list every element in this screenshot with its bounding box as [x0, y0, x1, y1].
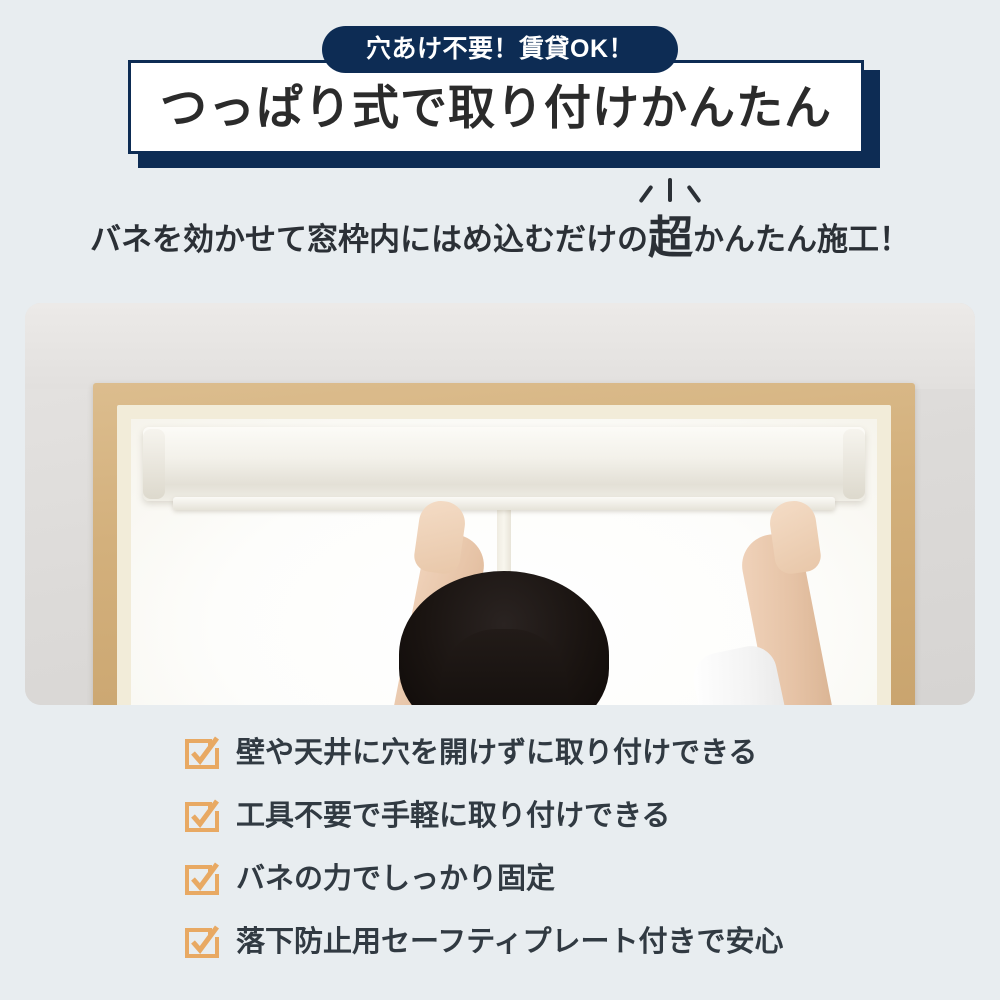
checklist-item: 落下防止用セーフティプレート付きで安心 [0, 911, 1000, 974]
subtitle-emphasis: 超 [648, 212, 693, 263]
subtitle: バネを効かせて窓枠内にはめ込むだけの超かんたん施工！ [0, 212, 1000, 257]
checklist-item: 壁や天井に穴を開けずに取り付けできる [0, 722, 1000, 785]
photo-window-frame [93, 383, 915, 705]
photo-blind-cap-left [143, 429, 165, 499]
checklist-item-label: バネの力でしっかり固定 [236, 865, 555, 894]
checkbox-checked-icon [184, 862, 220, 898]
subtitle-before: バネを効かせて窓枠内にはめ込むだけの [90, 222, 648, 257]
checklist-item-label: 落下防止用セーフティプレート付きで安心 [236, 928, 784, 957]
photo-blind-cap-right [843, 429, 865, 499]
photo-window-inner-frame [117, 405, 891, 705]
page-title: つっぱり式で取り付けかんたん [160, 84, 832, 131]
checkbox-checked-icon [184, 925, 220, 961]
checklist-item-label: 工具不要で手軽に取り付けできる [236, 802, 670, 831]
photo-roller-blind [143, 427, 865, 501]
header-banner: つっぱり式で取り付けかんたん 穴あけ不要！賃貸OK！ [0, 0, 1000, 180]
feature-badge: 穴あけ不要！賃貸OK！ [322, 26, 678, 73]
sparkle-icon [638, 176, 702, 208]
product-photo [25, 303, 975, 705]
photo-person-hair [440, 629, 568, 705]
checkbox-checked-icon [184, 799, 220, 835]
checklist-item: バネの力でしっかり固定 [0, 848, 1000, 911]
title-box: つっぱり式で取り付けかんたん [128, 60, 864, 154]
checkbox-checked-icon [184, 736, 220, 772]
feature-checklist: 壁や天井に穴を開けずに取り付けできる 工具不要で手軽に取り付けできる バネの力で… [0, 722, 1000, 974]
checklist-item: 工具不要で手軽に取り付けできる [0, 785, 1000, 848]
subtitle-after: かんたん施工！ [693, 222, 910, 257]
checklist-item-label: 壁や天井に穴を開けずに取り付けできる [236, 739, 757, 768]
photo-ceiling [25, 303, 975, 389]
subtitle-emphasis-wrap: 超 [648, 212, 693, 257]
photo-blind-rail [173, 497, 835, 510]
